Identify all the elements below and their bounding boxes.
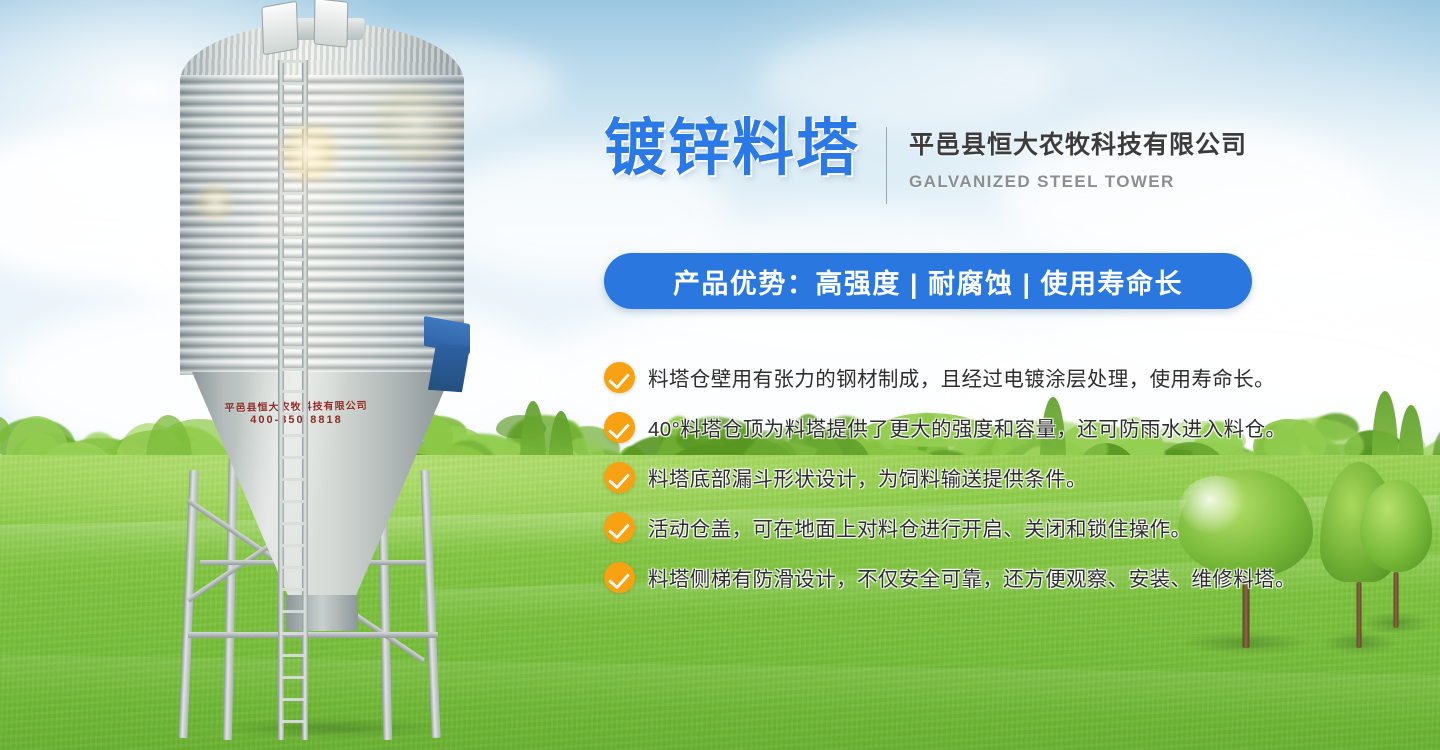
- product-advantages-text: 产品优势：高强度 | 耐腐蚀 | 使用寿命长: [673, 262, 1183, 301]
- product-advantages-banner: 产品优势：高强度 | 耐腐蚀 | 使用寿命长: [604, 253, 1252, 309]
- feature-item: 40°料塔仓顶为料塔提供了更大的强度和容量，还可防雨水进入料仓。: [604, 402, 1304, 452]
- feature-text: 40°料塔仓顶为料塔提供了更大的强度和容量，还可防雨水进入料仓。: [648, 412, 1286, 442]
- check-circle-icon: [604, 412, 635, 443]
- feature-text: 料塔底部漏斗形状设计，为饲料输送提供条件。: [648, 462, 1087, 492]
- tree-canopy: [1360, 480, 1432, 572]
- company-block: 平邑县恒大农牧科技有限公司 GALVANIZED STEEL TOWER: [909, 118, 1247, 192]
- check-circle-icon: [604, 512, 635, 543]
- feature-text: 活动仓盖，可在地面上对料仓进行开启、关闭和锁住操作。: [648, 512, 1191, 542]
- company-name-en: GALVANIZED STEEL TOWER: [909, 172, 1247, 192]
- hero-text-content: 镀锌料塔 平邑县恒大农牧科技有限公司 GALVANIZED STEEL TOWE…: [600, 0, 1300, 750]
- feature-item: 料塔底部漏斗形状设计，为饲料输送提供条件。: [604, 452, 1304, 502]
- title-row: 镀锌料塔 平邑县恒大农牧科技有限公司 GALVANIZED STEEL TOWE…: [604, 118, 1247, 204]
- check-circle-icon: [604, 362, 635, 393]
- silo-ground-shadow: [216, 718, 446, 738]
- feature-text: 料塔侧梯有防滑设计，不仅安全可靠，还方便观察、安装、维修料塔。: [648, 562, 1296, 592]
- foreground-tree: [1360, 480, 1432, 628]
- tree-trunk: [1394, 572, 1399, 628]
- silo-lid-hatch: [261, 1, 298, 56]
- title-divider: [886, 127, 887, 204]
- feature-item: 活动仓盖，可在地面上对料仓进行开启、关闭和锁住操作。: [604, 502, 1304, 552]
- hero-banner: 平邑县恒大农牧科技有限公司 400-850-8818 镀锌料塔 平邑县恒大农牧科…: [0, 0, 1440, 750]
- check-circle-icon: [604, 562, 635, 593]
- silo-lid-hatch: [314, 0, 349, 48]
- feature-item: 料塔仓壁用有张力的钢材制成，且经过电镀涂层处理，使用寿命长。: [604, 352, 1304, 402]
- company-name: 平邑县恒大农牧科技有限公司: [909, 125, 1247, 161]
- feature-text: 料塔仓壁用有张力的钢材制成，且经过电镀涂层处理，使用寿命长。: [648, 362, 1275, 392]
- silo-horizontal-brace: [188, 632, 438, 638]
- product-image-silo: 平邑县恒大农牧科技有限公司 400-850-8818: [96, 0, 516, 750]
- check-circle-icon: [604, 462, 635, 493]
- feature-list: 料塔仓壁用有张力的钢材制成，且经过电镀涂层处理，使用寿命长。40°料塔仓顶为料塔…: [604, 352, 1304, 602]
- page-title: 镀锌料塔: [604, 118, 860, 180]
- lens-rainbow-flare: [256, 80, 486, 240]
- silo-blue-chute-lower: [428, 344, 470, 392]
- silo-leg: [420, 470, 440, 738]
- feature-item: 料塔侧梯有防滑设计，不仅安全可靠，还方便观察、安装、维修料塔。: [604, 552, 1304, 602]
- silo-leg: [178, 470, 198, 738]
- silo-leg: [223, 440, 238, 740]
